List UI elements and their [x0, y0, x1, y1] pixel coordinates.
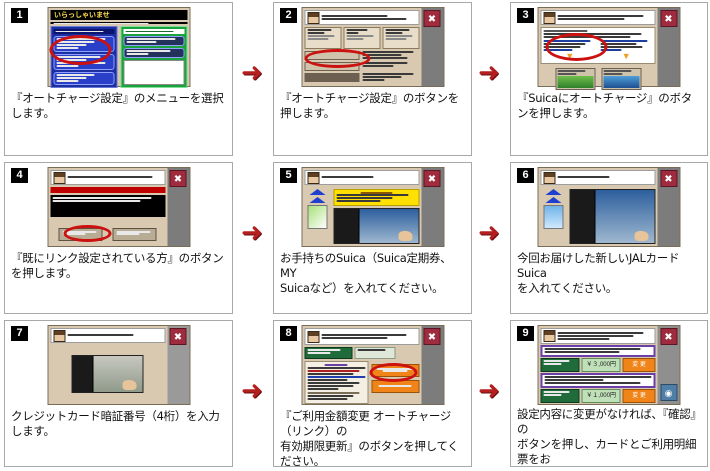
button-stop-usage[interactable] [371, 380, 419, 393]
button-already-linked[interactable] [59, 228, 103, 241]
step-caption-2: 『オートチャージ設定』のボタンを押します。 [280, 91, 467, 121]
screen-header-9 [541, 328, 656, 344]
step-panel-1: 1 いらっしゃいませ [4, 2, 233, 156]
welcome-title-bar: いらっしゃいませ [50, 10, 187, 20]
kiosk-screenshot-9: ￥３,000円 変 更 ￥１,000円 変 更 ✖ [538, 325, 681, 405]
screen-header-5 [304, 170, 419, 185]
note-box-2 [541, 373, 656, 388]
screen-header-8 [304, 328, 419, 345]
step-panel-6: 6 [510, 162, 708, 314]
flow-arrow-1-to-2: ➜ [241, 60, 267, 86]
flow-arrow-7-to-8: ➜ [241, 378, 267, 404]
welcome-subtitle-bar [50, 22, 187, 24]
step-caption-3: 『Suicaにオートチャージ』のボタンを押します。 [517, 91, 703, 121]
notice-box-5 [333, 189, 419, 206]
insert-chevron-icon [546, 189, 562, 195]
step-panel-2: 2 [273, 2, 472, 156]
hand-illustration [123, 380, 137, 390]
screen-header-2 [304, 10, 419, 25]
flow-arrow-4-to-5: ➜ [241, 220, 267, 246]
button-newcard-autocharge[interactable] [601, 68, 641, 90]
cancel-button-6[interactable]: ✖ [660, 170, 677, 187]
step-cell-4: 4 [0, 160, 237, 318]
kiosk-photo-5 [333, 208, 419, 244]
clerk-avatar-icon [53, 330, 65, 342]
caption-line: Suicaなど）を入れてください。 [280, 281, 467, 296]
deposit-withdraw-column[interactable] [120, 26, 187, 88]
step-caption-4: 『既にリンク設定されている方』のボタンを押します。 [11, 251, 228, 281]
step-cell-5: ➜ 5 [237, 160, 474, 318]
kiosk-screenshot-6: ✖ [538, 167, 681, 247]
menu-button-suspend[interactable] [123, 36, 184, 46]
caption-line: を入れてください。 [517, 281, 703, 296]
screen-header-7 [50, 328, 165, 343]
amount-value-1: ￥３,000円 [582, 358, 621, 372]
step-cell-3: ➜ 3 [474, 0, 710, 160]
clerk-avatar-icon [307, 331, 319, 343]
card-choice-box: ▼ ▼ [541, 27, 656, 64]
button-change-amount-renew[interactable] [371, 364, 419, 377]
step-badge-7: 7 [11, 326, 28, 341]
suica-card-icon [307, 205, 327, 229]
clerk-avatar-icon [307, 172, 319, 184]
amount-label-1 [541, 358, 580, 372]
button-not-linked[interactable] [113, 228, 157, 241]
step-badge-5: 5 [280, 168, 297, 183]
clerk-avatar-icon [544, 172, 556, 184]
caption-line: ボタンを押し、カードとご利用明細票をお [517, 437, 703, 467]
caption-line: 有効期限更新』のボタンを押してください。 [280, 439, 467, 467]
cancel-button-2[interactable]: ✖ [424, 10, 441, 27]
kiosk-screenshot-4: ✖ [47, 167, 190, 247]
card-option-credit[interactable] [304, 27, 341, 49]
step-cell-2: ➜ 2 [237, 0, 474, 160]
amount-row-1: ￥３,000円 変 更 [541, 358, 656, 372]
step-panel-3: 3 ▼ [510, 2, 708, 156]
button-suica-link[interactable] [304, 62, 359, 71]
caption-line: 今回お届けした新しいJALカードSuica [517, 251, 703, 281]
warning-body-box [50, 195, 165, 217]
step-cell-8: ➜ 8 [237, 318, 474, 471]
amount-change-button-2[interactable]: 変 更 [623, 389, 656, 403]
clerk-avatar-icon [307, 12, 319, 24]
note-box-1 [541, 345, 656, 357]
warning-title-bar [50, 187, 165, 193]
clerk-avatar-icon [544, 330, 556, 342]
button-credit-deposit[interactable] [304, 73, 359, 82]
kiosk-photo-6 [570, 189, 656, 244]
hand-illustration [635, 231, 649, 241]
kiosk-screenshot-3: ▼ ▼ [538, 7, 681, 87]
screen-header-4 [50, 170, 165, 185]
card-option-partner-bank[interactable] [382, 27, 419, 49]
menu-button-loan[interactable] [123, 48, 184, 58]
step-badge-6: 6 [517, 168, 534, 183]
caption-line: 『ご利用金額変更 オートチャージ（リンク）の [280, 409, 467, 439]
insert-chevron-icon [309, 197, 325, 203]
amount-value-2: ￥１,000円 [582, 389, 621, 403]
clerk-avatar-icon [544, 12, 556, 24]
card-option-bonus[interactable] [343, 27, 380, 49]
instruction-grid: 1 いらっしゃいませ [0, 0, 710, 471]
amount-change-button-1[interactable]: 変 更 [623, 358, 656, 372]
step-cell-9: ➜ 9 ￥３,000円 [474, 318, 710, 471]
step-caption-5: お手持ちのSuica（Suica定期券、MY Suicaなど）を入れてください。 [280, 251, 467, 296]
step-badge-2: 2 [280, 8, 297, 23]
usage-info-box [304, 361, 368, 404]
step-caption-1: 『オートチャージ設定』のメニューを選択します。 [11, 91, 228, 121]
step-caption-8: 『ご利用金額変更 オートチャージ（リンク）の 有効期限更新』のボタンを押してくだ… [280, 409, 467, 467]
jal-card-image [603, 76, 639, 88]
tab-in-use [354, 347, 395, 359]
button-autocharge-setting[interactable] [304, 51, 359, 60]
step-cell-7: 7 [0, 318, 237, 471]
step-caption-6: 今回お届けした新しいJALカードSuica を入れてください。 [517, 251, 703, 296]
flow-arrow-2-to-3: ➜ [478, 60, 504, 86]
kiosk-screenshot-7: ✖ [47, 325, 190, 405]
kiosk-photo-7 [72, 355, 144, 393]
cancel-button-7[interactable]: ✖ [170, 328, 187, 345]
kiosk-screenshot-5: ✖ [301, 167, 444, 247]
clerk-avatar-icon [53, 172, 65, 184]
choice-suica-autocharge[interactable]: ▼ [544, 40, 597, 61]
insert-chevron-icon [309, 189, 325, 195]
step-cell-1: 1 いらっしゃいませ [0, 0, 237, 160]
insert-chevron-icon [546, 197, 562, 203]
step-panel-8: 8 [273, 320, 472, 467]
step-panel-4: 4 [4, 162, 233, 314]
step-badge-8: 8 [280, 326, 297, 341]
step-badge-3: 3 [517, 8, 534, 23]
caption-line: 設定内容に変更がなければ、『確認』の [517, 407, 703, 437]
step-badge-9: 9 [517, 326, 534, 341]
cancel-button-4[interactable]: ✖ [170, 170, 187, 187]
cancel-button-9[interactable]: ✖ [660, 328, 677, 345]
kiosk-screenshot-1: いらっしゃいませ [47, 7, 190, 87]
cancel-button-3[interactable]: ✖ [660, 10, 677, 27]
confirm-button-9[interactable]: ◉ [660, 384, 677, 401]
step-panel-9: 9 ￥３,000円 変 更 [510, 320, 708, 467]
menu-empty-area [123, 60, 184, 85]
card-service-column[interactable] [50, 26, 117, 88]
step-caption-7: クレジットカード暗証番号（4桁）を入力します。 [11, 409, 228, 439]
step-panel-5: 5 [273, 162, 472, 314]
step-cell-6: ➜ 6 [474, 160, 710, 318]
jal-card-icon [544, 205, 564, 229]
choice-newcard-autocharge[interactable]: ▼ [600, 40, 653, 61]
step-panel-7: 7 [4, 320, 233, 467]
step-badge-4: 4 [11, 168, 28, 183]
tab-usage-details[interactable] [304, 347, 352, 359]
button-suica-autocharge[interactable] [555, 68, 595, 90]
flow-arrow-8-to-9: ➜ [478, 378, 504, 404]
cancel-button-8[interactable]: ✖ [424, 328, 441, 345]
step-badge-1: 1 [11, 8, 28, 23]
menu-button-autocharge[interactable] [53, 54, 114, 70]
suica-card-image [557, 76, 593, 88]
amount-label-2 [541, 389, 580, 403]
kiosk-screenshot-8: ✖ [301, 325, 444, 405]
menu-button-cashing[interactable] [53, 72, 114, 85]
screen-header-6 [541, 170, 656, 185]
step-caption-9: 設定内容に変更がなければ、『確認』の ボタンを押し、カードとご利用明細票をお 受… [517, 407, 703, 467]
amount-row-2: ￥１,000円 変 更 [541, 389, 656, 403]
caption-line: お手持ちのSuica（Suica定期券、MY [280, 251, 467, 281]
cancel-button-5[interactable]: ✖ [424, 170, 441, 187]
flow-arrow-5-to-6: ➜ [478, 220, 504, 246]
kiosk-screenshot-2: ✖ [301, 7, 444, 87]
screen-header-3 [541, 10, 656, 25]
hand-illustration [398, 231, 412, 241]
menu-button-charge[interactable] [53, 36, 114, 52]
